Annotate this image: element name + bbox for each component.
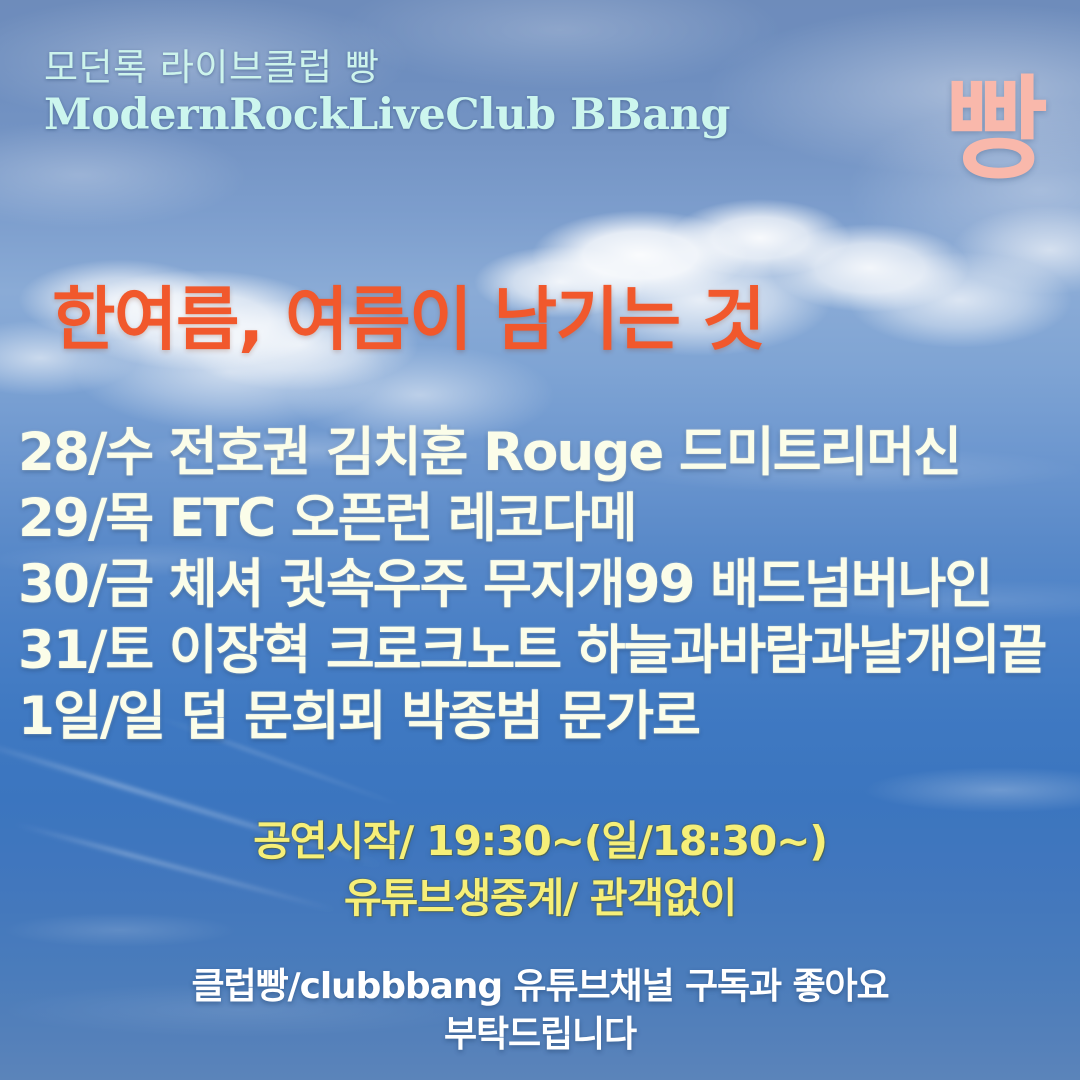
venue-name-korean: 모던록 라이브클럽 빵 xyxy=(44,48,730,87)
channel-subscribe-text: 클럽빵/clubbbang 유튜브채널 구독과 좋아요 xyxy=(0,963,1080,1011)
venue-header: 모던록 라이브클럽 빵 ModernRockLiveClub BBang xyxy=(44,48,730,139)
footer-block: 클럽빵/clubbbang 유튜브채널 구독과 좋아요 부탁드립니다 xyxy=(0,963,1080,1059)
show-start-time: 공연시작/ 19:30~(일/18:30~) xyxy=(0,813,1080,870)
bbang-logo: 빵 xyxy=(945,74,1046,186)
venue-name-english: ModernRockLiveClub BBang xyxy=(44,93,730,139)
streaming-notice: 유튜브생중계/ 관객없이 xyxy=(0,870,1080,927)
show-info-block: 공연시작/ 19:30~(일/18:30~) 유튜브생중계/ 관객없이 xyxy=(0,813,1080,926)
lineup-row: 31/토 이장혁 크로크노트 하늘과바람과날개의끝 xyxy=(18,618,1068,684)
poster-content: 모던록 라이브클럽 빵 ModernRockLiveClub BBang 빵 한… xyxy=(0,0,1080,1080)
lineup-row: 29/목 ETC 오픈런 레코다메 xyxy=(18,486,1068,552)
event-title: 한여름, 여름이 남기는 것 xyxy=(52,263,764,363)
channel-subscribe-text-2: 부탁드립니다 xyxy=(0,1011,1080,1059)
lineup-schedule-list: 28/수 전호권 김치훈 Rouge 드미트리머신 29/목 ETC 오픈런 레… xyxy=(18,420,1068,750)
lineup-row: 1일/일 덥 문희뫼 박종범 문가로 xyxy=(18,684,1068,750)
poster-canvas: 모던록 라이브클럽 빵 ModernRockLiveClub BBang 빵 한… xyxy=(0,0,1080,1080)
lineup-row: 28/수 전호권 김치훈 Rouge 드미트리머신 xyxy=(18,420,1068,486)
lineup-row: 30/금 체셔 귓속우주 무지개99 배드넘버나인 xyxy=(18,552,1068,618)
